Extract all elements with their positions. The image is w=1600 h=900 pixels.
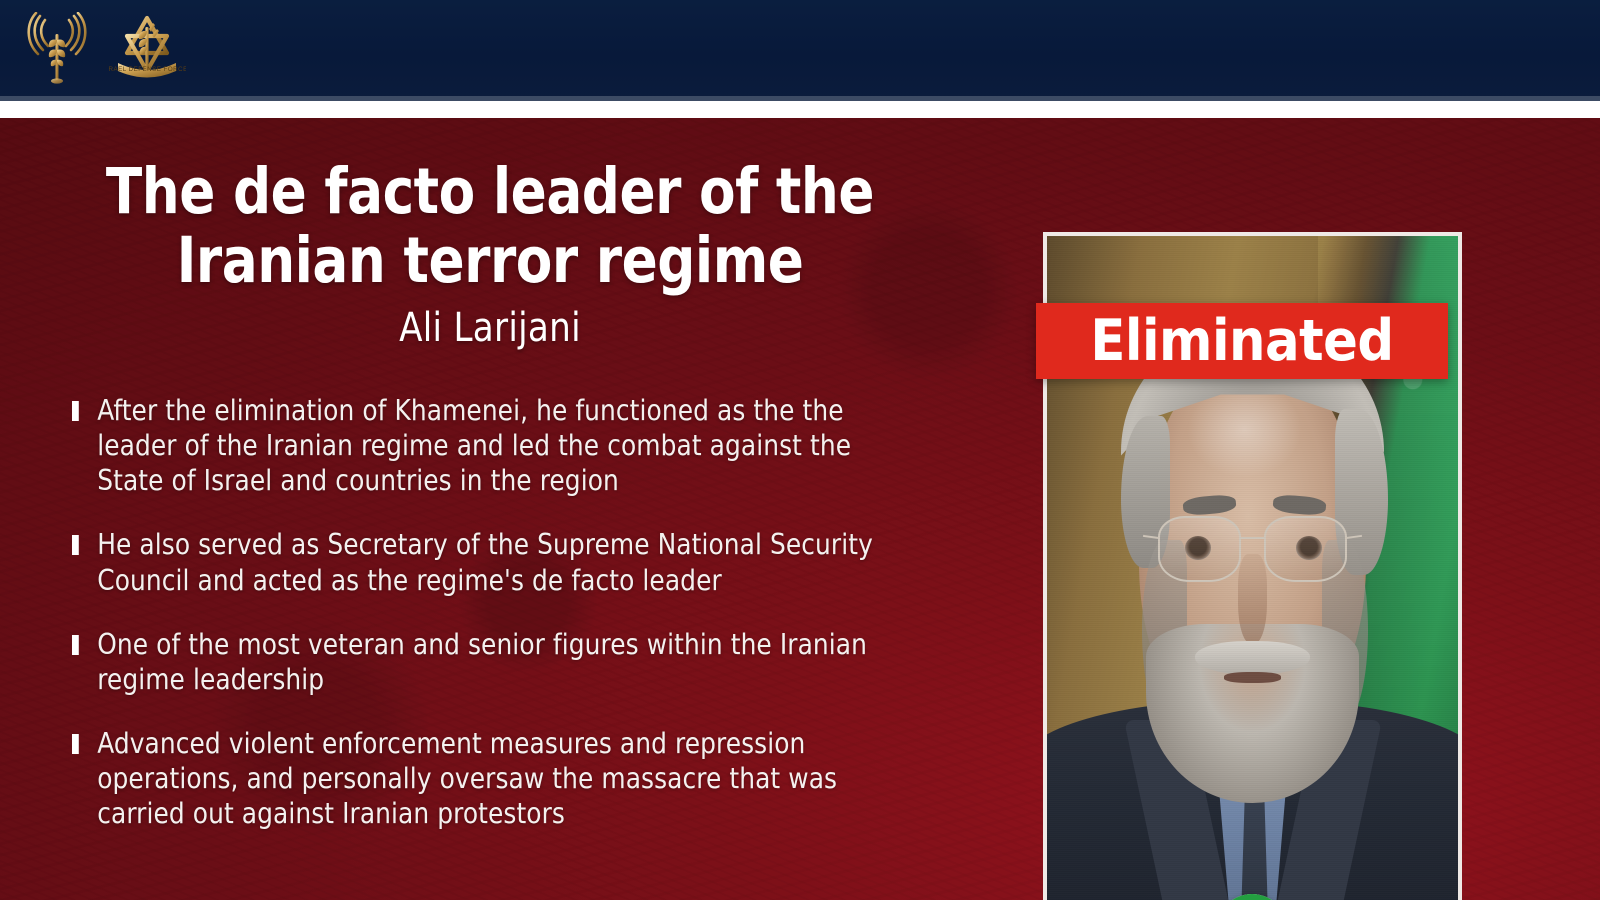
bullet-text: Advanced violent enforcement measures an…: [97, 727, 837, 830]
text-column: The de facto leader of the Iranian terro…: [0, 118, 980, 900]
header-emblems: ISRAEL DEFENSE FORCES: [26, 11, 186, 91]
glasses-bridge: [1241, 537, 1264, 539]
status-badge-label: Eliminated: [1090, 313, 1393, 370]
status-badge: Eliminated: [1036, 303, 1448, 379]
bullet-marker-icon: [72, 535, 79, 555]
page-title: The de facto leader of the Iranian terro…: [29, 158, 950, 295]
bullet-marker-icon: [72, 401, 79, 421]
iran-flag-circle-icon: [1216, 894, 1288, 900]
header-bar: ISRAEL DEFENSE FORCES: [0, 0, 1600, 101]
bullet-list: After the elimination of Khamenei, he fu…: [0, 393, 980, 830]
subject-nose: [1238, 554, 1267, 644]
main-stage: The de facto leader of the Iranian terro…: [0, 118, 1600, 900]
subject-mouth: [1224, 672, 1282, 683]
lens-right: [1264, 516, 1347, 582]
bullet-marker-icon: [72, 635, 79, 655]
white-separator-band: [0, 101, 1600, 118]
infographic-poster: ISRAEL DEFENSE FORCES The de facto leade…: [0, 0, 1600, 900]
idf-star-of-david-emblem: ISRAEL DEFENSE FORCES: [108, 11, 186, 91]
bullet-text: One of the most veteran and senior figur…: [97, 628, 867, 696]
bullet-text: After the elimination of Khamenei, he fu…: [97, 394, 851, 497]
flag-stripe-green: [1216, 894, 1288, 900]
list-item: He also served as Secretary of the Supre…: [72, 527, 914, 597]
list-item: One of the most veteran and senior figur…: [72, 627, 914, 697]
bullet-text: He also served as Secretary of the Supre…: [97, 528, 873, 596]
bullet-marker-icon: [72, 734, 79, 754]
idf-spokesperson-broadcast-emblem: [26, 12, 88, 90]
list-item: After the elimination of Khamenei, he fu…: [72, 393, 914, 498]
subject-name: Ali Larijani: [25, 305, 956, 351]
list-item: Advanced violent enforcement measures an…: [72, 726, 914, 831]
idf-emblem-banner-text: ISRAEL DEFENSE FORCES: [108, 66, 186, 73]
lens-left: [1158, 516, 1241, 582]
